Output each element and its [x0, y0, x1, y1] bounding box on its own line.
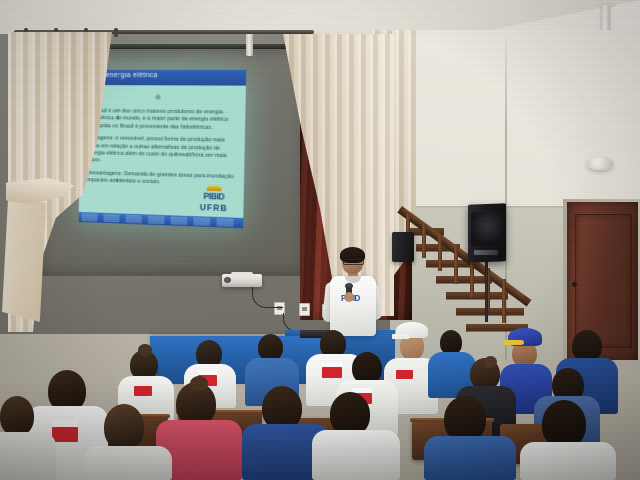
slide-body: O Brasil é um dos cinco maiores produtor… [86, 108, 240, 194]
pibid-crown-icon [207, 186, 222, 192]
hair-bun [190, 376, 208, 391]
wall-lamp-icon [587, 157, 613, 170]
projector-lens-icon [224, 277, 231, 283]
door-knob-icon[interactable] [572, 282, 577, 287]
ufrb-logo: UFRB [193, 203, 235, 214]
audience-head [258, 334, 283, 361]
shirt-badge [134, 386, 152, 396]
cap-brim [504, 340, 524, 345]
audience-body [520, 442, 616, 480]
curtain-ring [114, 28, 118, 37]
slide-decoration-dot [155, 94, 160, 99]
monitor-speaker [392, 232, 414, 262]
pibid-logo: PIBID [193, 191, 235, 202]
hair-bun [484, 356, 497, 368]
projector-top [231, 272, 253, 276]
audience [0, 300, 640, 480]
shirt-badge [396, 370, 413, 379]
audience-body [312, 430, 400, 480]
hair-bun [138, 344, 152, 356]
slide-logo-group: PIBID UFRB [192, 185, 235, 219]
audience-body [0, 432, 56, 480]
baluster [438, 235, 442, 271]
baluster [454, 246, 458, 284]
slide-title: o de energia elétrica [89, 72, 246, 79]
audience-head [0, 396, 34, 436]
shirt-badge [52, 427, 78, 442]
cap-brim [392, 334, 410, 339]
audience-head [104, 404, 144, 450]
audience-head [542, 400, 586, 448]
glasses-icon [343, 259, 364, 265]
speaker-grille [471, 211, 503, 246]
baluster [422, 224, 426, 258]
photo-scene: o de energia elétrica O Brasil é um dos … [0, 0, 640, 480]
speaker-brand-label [474, 250, 498, 255]
audience-body [424, 436, 516, 480]
handrail [400, 208, 525, 301]
slide-bullet-1: O Brasil é um dos cinco maiores produtor… [87, 108, 240, 133]
projected-slide: o de energia elétrica O Brasil é um dos … [79, 70, 247, 228]
slide-bullet-2: Vantagens: é renovável, possui forma de … [87, 135, 240, 168]
audience-body [84, 446, 172, 480]
shirt-badge-top [52, 420, 78, 427]
baluster [470, 257, 474, 297]
shirt-badge [322, 367, 342, 378]
